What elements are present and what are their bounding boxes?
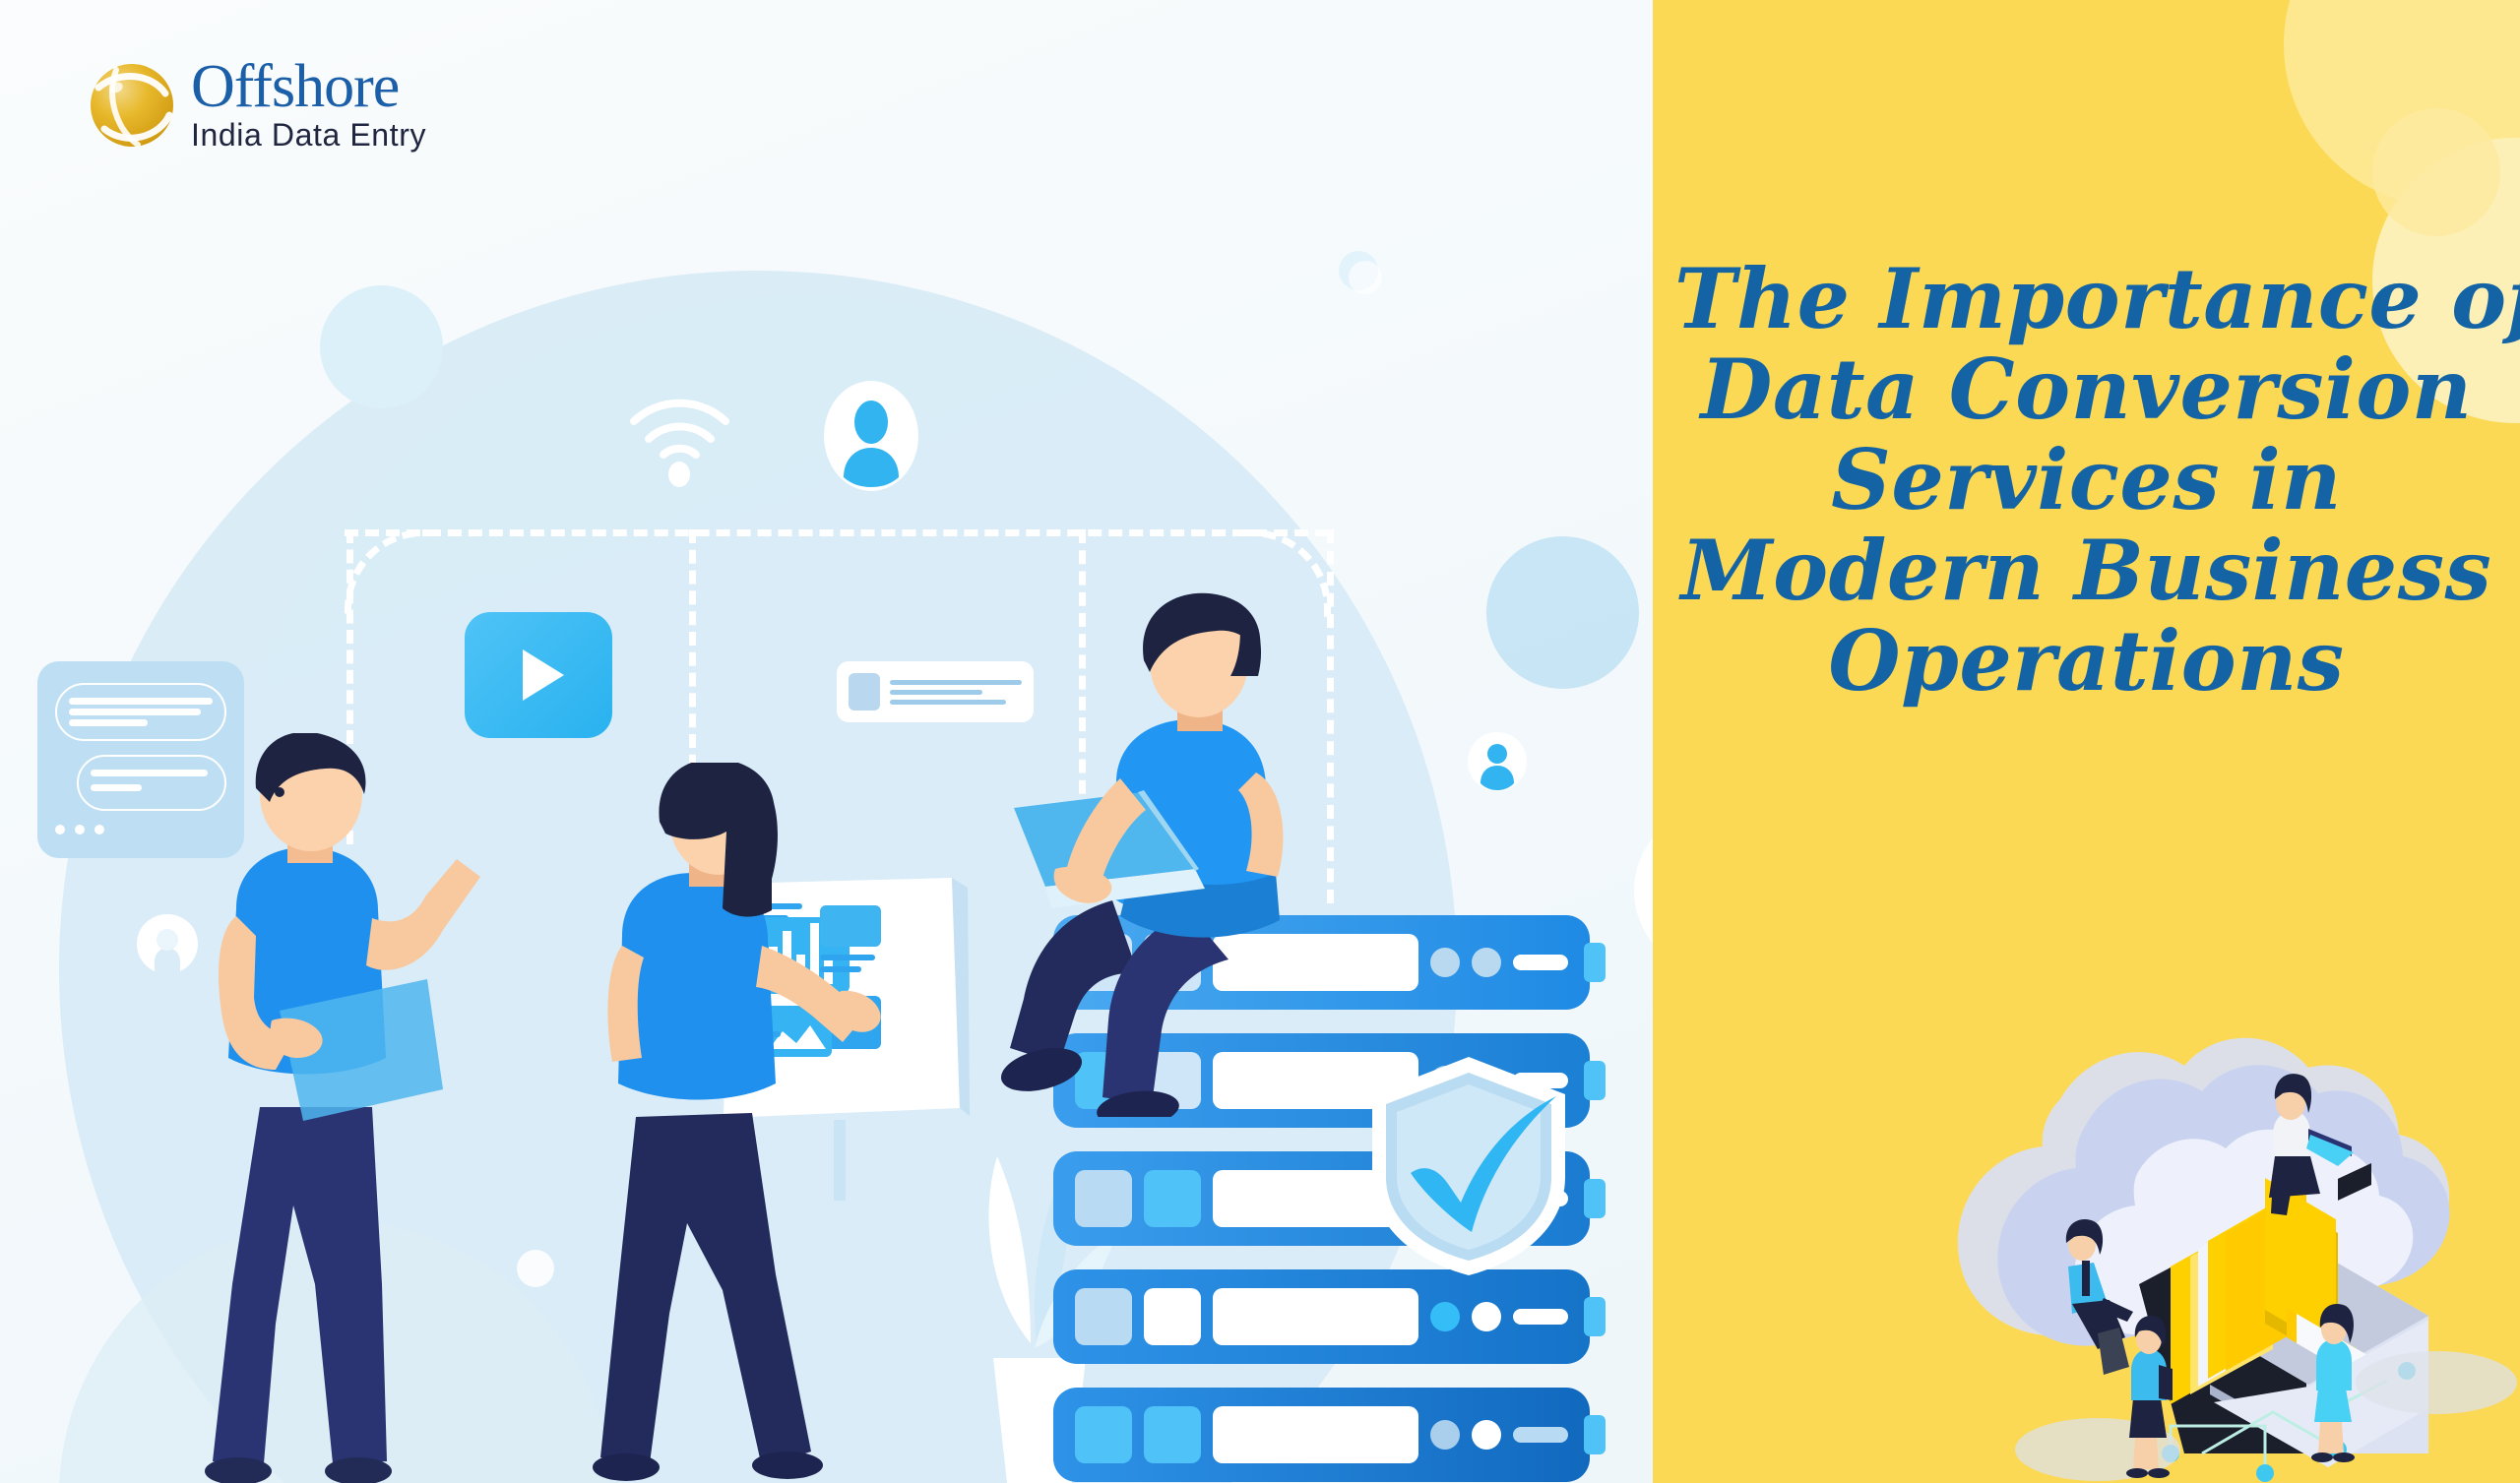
woman-at-dashboard (579, 763, 904, 1483)
server-unit (1053, 1388, 1590, 1482)
dashed-connector-horizontal (345, 529, 1329, 536)
decor-yellow-circle-3 (2372, 108, 2500, 236)
illustration-panel (0, 0, 1664, 1483)
logo-tagline: India Data Entry (191, 116, 426, 154)
title-line-4: Modern Business (1674, 525, 2498, 616)
logo-name: Offshore (191, 57, 426, 116)
title-line-2: Data Conversion (1674, 344, 2498, 435)
title-line-5: Operations (1674, 616, 2498, 707)
title-line-3: Services in (1674, 435, 2498, 525)
cloud-file-storage-isometric (1875, 1009, 2520, 1483)
decor-dot-white (1349, 261, 1382, 294)
doc-thumbnail (849, 673, 880, 711)
page-title: The Importance of Data Conversion Servic… (1653, 254, 2520, 707)
user-avatar-icon (822, 379, 920, 497)
decor-circle-top (320, 285, 443, 408)
man-on-server-with-laptop (994, 586, 1447, 1117)
server-unit (1053, 1269, 1590, 1364)
decor-circle-right (1486, 536, 1639, 689)
play-button-icon[interactable] (465, 612, 612, 738)
title-line-1: The Importance of (1674, 254, 2498, 344)
blog-banner: The Importance of Data Conversion Servic… (0, 0, 2520, 1483)
brand-logo[interactable]: Offshore India Data Entry (87, 57, 426, 154)
globe-sphere-icon (87, 60, 177, 151)
play-triangle (523, 649, 564, 701)
user-avatar-icon (1467, 728, 1528, 795)
wifi-icon (628, 394, 731, 487)
man-with-tablet (185, 733, 549, 1483)
